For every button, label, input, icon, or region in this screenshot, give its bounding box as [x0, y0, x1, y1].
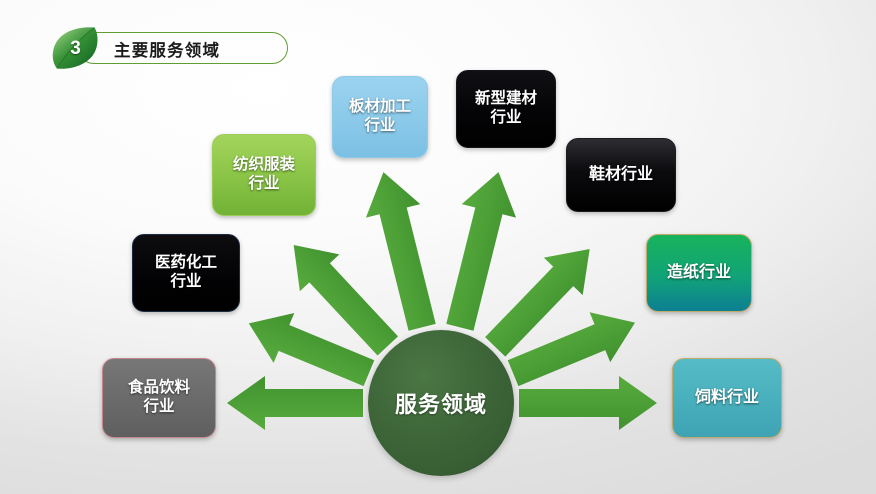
arrow-to-food [227, 376, 363, 430]
node-pharmaceutical-chemical[interactable]: 医药化工 行业 [132, 234, 240, 312]
node-papermaking[interactable]: 造纸行业 [646, 234, 752, 312]
node-new-building-materials-label: 新型建材 行业 [469, 90, 543, 128]
node-board-processing[interactable]: 板材加工 行业 [332, 76, 428, 158]
slide-canvas: 3 主要服务领域 [0, 0, 876, 494]
center-hub[interactable]: 服务领域 [368, 330, 514, 476]
node-shoe-materials[interactable]: 鞋材行业 [566, 138, 676, 212]
node-food-beverage[interactable]: 食品饮料 行业 [102, 358, 216, 438]
slide-header: 3 主要服务领域 [48, 24, 288, 72]
node-shoe-materials-label: 鞋材行业 [583, 165, 659, 185]
node-pharmaceutical-chemical-label: 医药化工 行业 [149, 254, 223, 292]
node-food-beverage-label: 食品饮料 行业 [122, 379, 196, 417]
arrow-to-paper [503, 298, 646, 398]
arrow-to-newmat [433, 165, 526, 334]
node-papermaking-label: 造纸行业 [661, 263, 737, 283]
arrow-to-feed [519, 376, 657, 430]
node-board-processing-label: 板材加工 行业 [343, 98, 417, 136]
page-title: 主要服务领域 [114, 37, 220, 61]
node-feed-industry-label: 饲料行业 [689, 388, 765, 408]
arrow-to-shoe [476, 230, 609, 365]
arrow-to-board [356, 165, 449, 334]
arrow-to-textile [274, 227, 408, 365]
arrow-to-pharma [239, 298, 380, 398]
header-step-number: 3 [48, 24, 102, 72]
node-feed-industry[interactable]: 饲料行业 [672, 358, 782, 438]
node-textile-apparel[interactable]: 纺织服装 行业 [212, 134, 316, 216]
node-new-building-materials[interactable]: 新型建材 行业 [456, 70, 556, 148]
node-textile-apparel-label: 纺织服装 行业 [227, 156, 301, 194]
center-hub-label: 服务领域 [395, 387, 487, 419]
